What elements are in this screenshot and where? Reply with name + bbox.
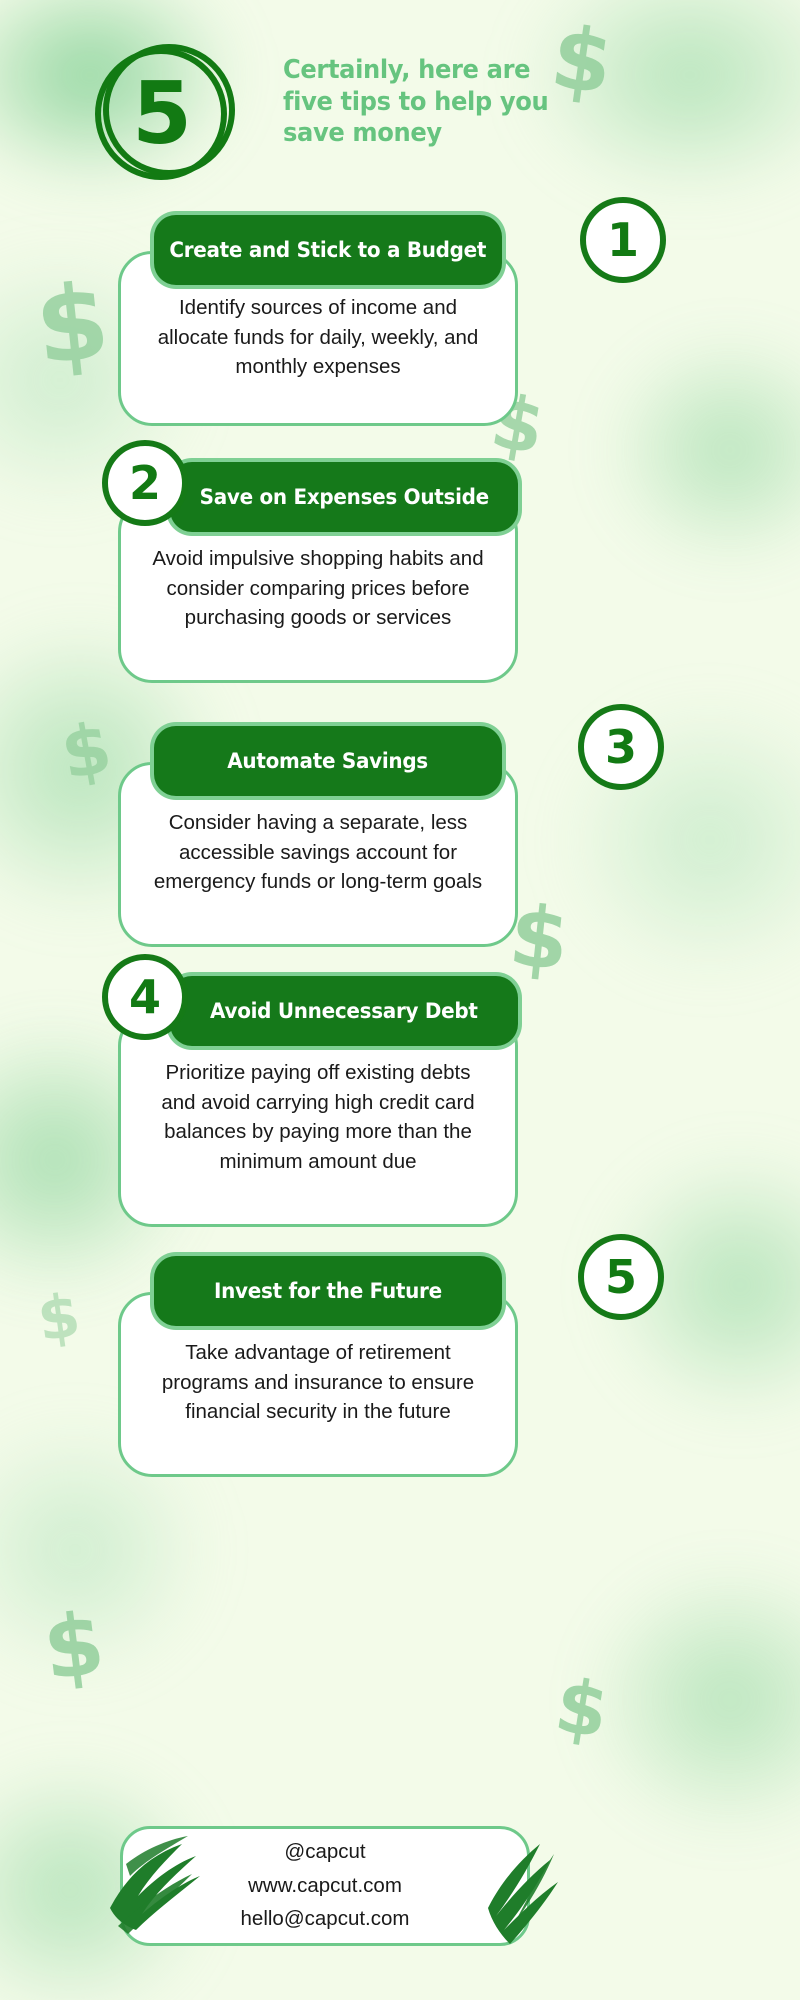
tip-card-4-badge: 4 — [102, 954, 188, 1040]
tip-card-4-text: Prioritize paying off existing debts and… — [118, 1058, 518, 1177]
tip-card-3-number: 3 — [605, 724, 637, 770]
tip-card-4-title: Avoid Unnecessary Debt — [210, 999, 478, 1023]
page-title: Certainly, here are five tips to help yo… — [283, 55, 553, 150]
tip-card-3-header: Automate Savings — [154, 726, 502, 796]
footer-email[interactable]: hello@capcut.com — [241, 1904, 410, 1935]
tip-card-3-text: Consider having a separate, less accessi… — [118, 808, 518, 897]
tip-card-3: Automate Savings 3 Consider having a sep… — [118, 726, 518, 911]
dollar-icon: $ — [34, 1285, 84, 1350]
tip-card-1: Create and Stick to a Budget 1 Identify … — [118, 215, 518, 390]
tip-card-4: Avoid Unnecessary Debt 4 Prioritize payi… — [118, 976, 518, 1191]
tip-card-5: Invest for the Future 5 Take advantage o… — [118, 1256, 518, 1441]
tip-card-2-header: Save on Expenses Outside — [170, 462, 518, 532]
tip-card-1-number: 1 — [607, 217, 639, 263]
tip-card-2-text: Avoid impulsive shopping habits and cons… — [118, 544, 518, 633]
tip-card-1-title: Create and Stick to a Budget — [170, 238, 487, 262]
tip-card-2: Save on Expenses Outside 2 Avoid impulsi… — [118, 462, 518, 647]
footer-handle: @capcut — [284, 1837, 365, 1868]
dollar-icon: $ — [56, 712, 116, 789]
header: 5 Certainly, here are five tips to help … — [0, 0, 800, 200]
footer-website[interactable]: www.capcut.com — [248, 1871, 402, 1902]
tip-card-5-title: Invest for the Future — [214, 1279, 442, 1303]
footer-contact-card: @capcut www.capcut.com hello@capcut.com — [120, 1826, 530, 1946]
tip-card-1-badge: 1 — [580, 197, 666, 283]
tip-card-5-badge: 5 — [578, 1234, 664, 1320]
tip-card-2-title: Save on Expenses Outside — [199, 485, 488, 509]
tip-card-3-title: Automate Savings — [228, 749, 429, 773]
tip-card-2-number: 2 — [129, 460, 161, 506]
tip-card-5-header: Invest for the Future — [154, 1256, 502, 1326]
infographic-page: $ $ $ $ $ $ $ $ 5 Certainly, here are fi… — [0, 0, 800, 2000]
dollar-icon: $ — [551, 1668, 613, 1749]
header-badge: 5 — [95, 40, 235, 180]
tip-card-1-text: Identify sources of income and allocate … — [118, 293, 518, 382]
tip-card-2-badge: 2 — [102, 440, 188, 526]
tip-card-3-badge: 3 — [578, 704, 664, 790]
tip-card-4-header: Avoid Unnecessary Debt — [170, 976, 518, 1046]
tip-card-4-number: 4 — [129, 974, 161, 1020]
dollar-icon: $ — [39, 1601, 109, 1694]
header-badge-number: 5 — [95, 48, 227, 180]
tip-card-1-header: Create and Stick to a Budget — [154, 215, 502, 285]
tip-card-5-number: 5 — [605, 1254, 637, 1300]
tip-card-5-text: Take advantage of retirement programs an… — [118, 1338, 518, 1427]
dollar-icon: $ — [31, 269, 114, 380]
